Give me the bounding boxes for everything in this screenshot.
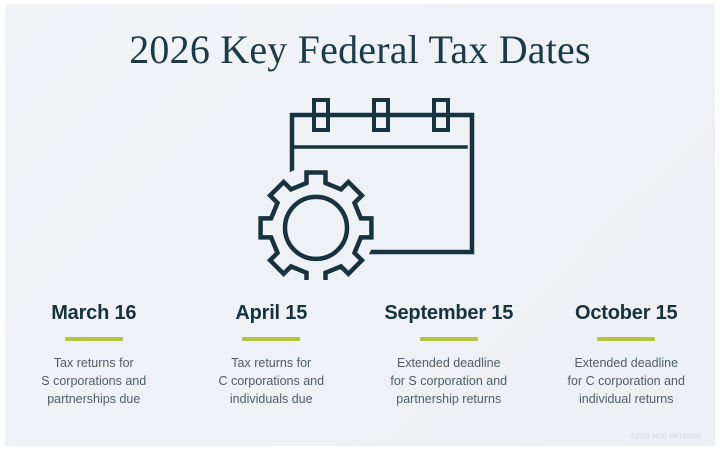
date-description: Tax returns for C corporations and indiv…: [189, 354, 355, 408]
date-description: Extended deadline for C corporation and …: [544, 354, 710, 408]
accent-rule: [420, 337, 478, 341]
infographic-root: 2026 Key Federal Tax Dates: [0, 0, 720, 450]
calendar-gear-svg: [250, 90, 490, 280]
date-heading: September 15: [366, 300, 532, 326]
date-column-march: March 16 Tax returns for S corporations …: [5, 300, 183, 408]
date-heading: April 15: [189, 300, 355, 326]
date-columns: March 16 Tax returns for S corporations …: [5, 300, 715, 408]
date-description: Tax returns for S corporations and partn…: [11, 354, 177, 408]
description-line: Tax returns for: [11, 354, 177, 372]
description-line: C corporations and: [189, 372, 355, 390]
description-line: individuals due: [189, 390, 355, 408]
date-column-october: October 15 Extended deadline for C corpo…: [538, 300, 716, 408]
description-line: Extended deadline: [544, 354, 710, 372]
page-title: 2026 Key Federal Tax Dates: [5, 26, 715, 73]
calendar-gear-icon: [250, 90, 490, 280]
copyright-credit: ©2025 MCO MKT82155: [631, 434, 701, 440]
date-heading: March 16: [11, 300, 177, 326]
infographic-card: 2026 Key Federal Tax Dates: [5, 4, 715, 446]
description-line: for C corporation and: [544, 372, 710, 390]
accent-rule: [597, 337, 655, 341]
description-line: individual returns: [544, 390, 710, 408]
date-column-april: April 15 Tax returns for C corporations …: [183, 300, 361, 408]
calendar-outline: [292, 115, 472, 252]
accent-rule: [65, 337, 123, 341]
description-line: partnerships due: [11, 390, 177, 408]
date-heading: October 15: [544, 300, 710, 326]
description-line: partnership returns: [366, 390, 532, 408]
accent-rule: [242, 337, 300, 341]
description-line: Extended deadline: [366, 354, 532, 372]
gear-icon: [261, 173, 372, 281]
description-line: S corporations and: [11, 372, 177, 390]
description-line: Tax returns for: [189, 354, 355, 372]
date-description: Extended deadline for S corporation and …: [366, 354, 532, 408]
date-column-september: September 15 Extended deadline for S cor…: [360, 300, 538, 408]
description-line: for S corporation and: [366, 372, 532, 390]
